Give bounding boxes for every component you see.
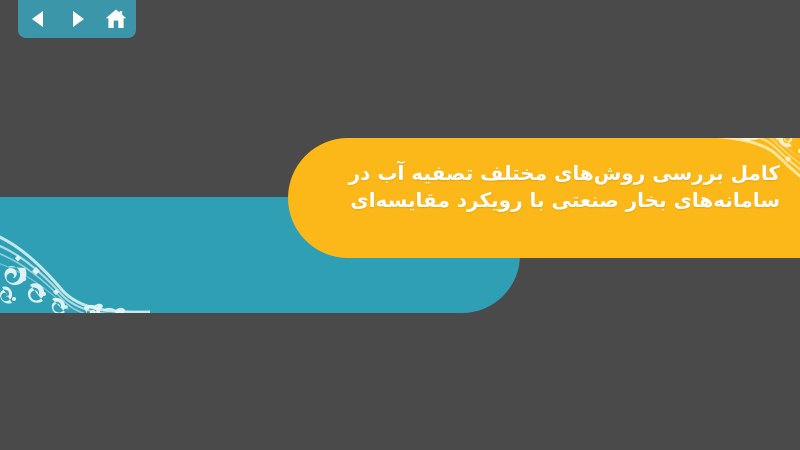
forward-button[interactable] xyxy=(64,6,90,32)
slide-title: کامل بررسی روش‌های مختلف تصفیه آب در سام… xyxy=(300,160,780,214)
triangle-right-icon xyxy=(66,8,88,30)
slide-title-line-1: کامل بررسی روش‌های مختلف تصفیه آب در xyxy=(300,160,780,187)
home-icon xyxy=(104,7,128,31)
triangle-left-icon xyxy=(27,8,49,30)
slide-title-line-2: سامانه‌های بخار صنعتی با رویکرد مقایسه‌ا… xyxy=(300,187,780,214)
back-button[interactable] xyxy=(25,6,51,32)
home-button[interactable] xyxy=(103,6,129,32)
navigation-bar xyxy=(18,0,136,38)
slide-canvas: کامل بررسی روش‌های مختلف تصفیه آب در سام… xyxy=(0,0,800,450)
